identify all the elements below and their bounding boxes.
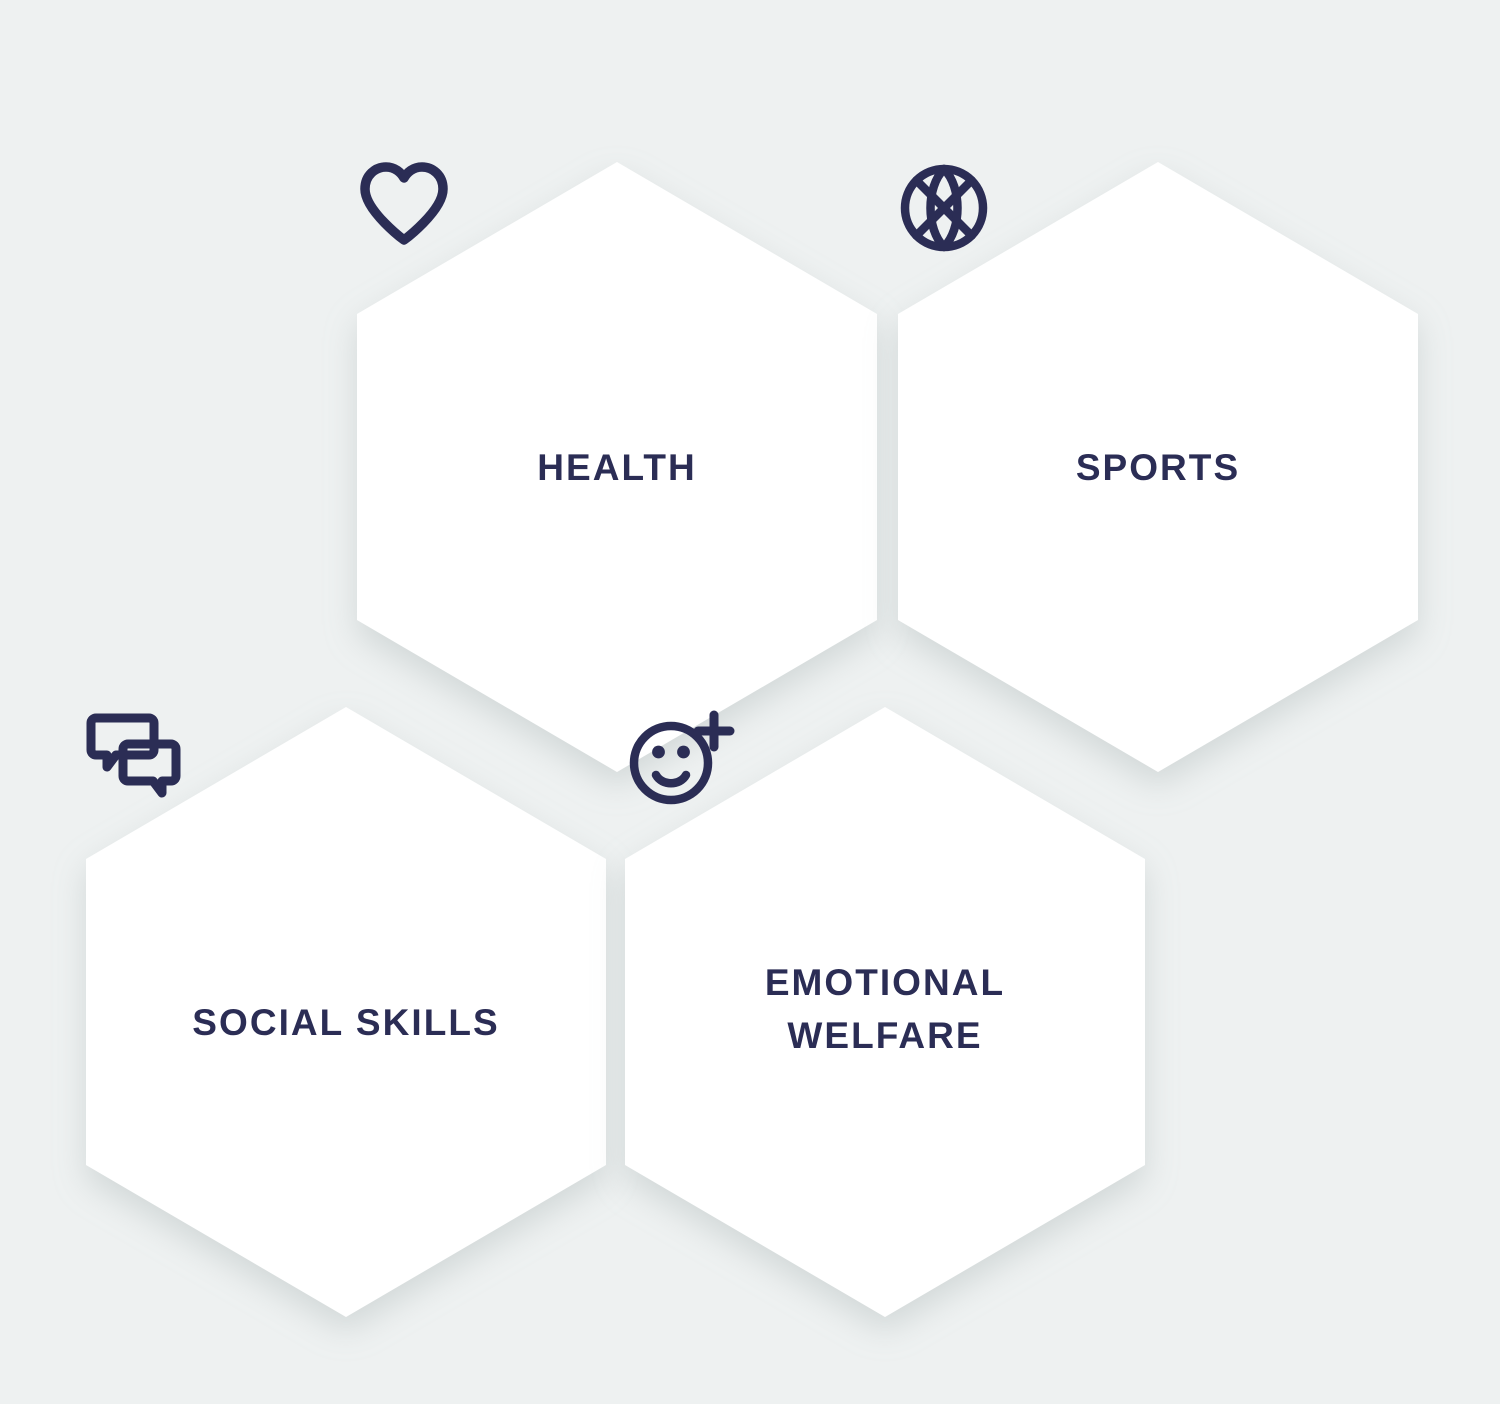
hex-tile-health[interactable]: HEALTH bbox=[357, 162, 877, 772]
hexagon-tile-grid: HEALTH bbox=[0, 0, 1500, 1404]
hex-tile-emotional-welfare[interactable]: EMOTIONAL WELFARE bbox=[625, 707, 1145, 1317]
hex-tile-social-skills[interactable]: SOCIAL SKILLS bbox=[86, 707, 606, 1317]
hex-tile-sports[interactable]: SPORTS bbox=[898, 162, 1418, 772]
